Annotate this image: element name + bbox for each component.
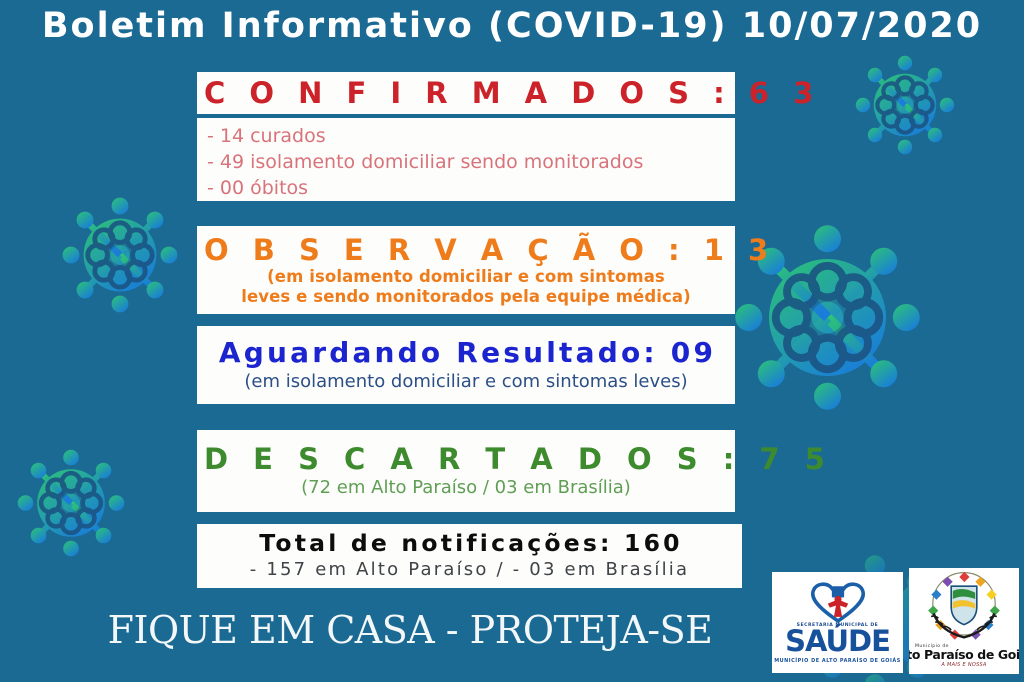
saude-word: SAÚDE (785, 628, 890, 656)
card-observacao: O B S E R V A Ç Ã O : 1 3 (em isolamento… (197, 226, 735, 314)
virus-icon-left-lower (6, 438, 136, 568)
confirmados-heading: C O N F I R M A D O S : 6 3 (197, 78, 735, 109)
detail-line-isolamento: - 49 isolamento domiciliar sendo monitor… (207, 149, 735, 175)
card-confirmados-details: - 14 curados - 49 isolamento domiciliar … (197, 118, 735, 201)
observacao-heading: O B S E R V A Ç Ã O : 1 3 (197, 235, 735, 266)
virus-icon-left-upper (50, 185, 190, 325)
slogan-text: FIQUE EM CASA - PROTEJA-SE (60, 608, 760, 652)
observacao-sub-line-1: (em isolamento domiciliar e com sintomas (197, 268, 735, 287)
covid-bulletin-poster: Boletim Informativo (COVID-19) 10/07/202… (0, 0, 1024, 682)
descartados-sub: (72 em Alto Paraíso / 03 em Brasília) (197, 478, 735, 498)
brasao-word: Alto Paraíso de Goiás (909, 649, 1019, 662)
aguardando-heading: Aguardando Resultado: 09 (197, 338, 735, 368)
virus-icon-top-right (845, 45, 965, 165)
heart-cross-person-icon (807, 577, 869, 623)
logo-brasao-municipal: Município de Alto Paraíso de Goiás A MAI… (909, 568, 1019, 674)
total-sub: - 157 em Alto Paraíso / - 03 em Brasília (197, 560, 742, 580)
aguardando-sub: (em isolamento domiciliar e com sintomas… (197, 372, 735, 392)
detail-line-curados: - 14 curados (207, 123, 735, 149)
saude-line-bottom: MUNICÍPIO DE ALTO PARAÍSO DE GOIÁS (774, 658, 901, 664)
card-confirmados: C O N F I R M A D O S : 6 3 (197, 72, 735, 114)
card-total-notificacoes: Total de notificações: 160 - 157 em Alto… (197, 524, 742, 588)
brasao-line-bottom: A MAIS E NOSSA (941, 662, 986, 668)
total-heading: Total de notificações: 160 (197, 531, 742, 556)
detail-line-obitos: - 00 óbitos (207, 175, 735, 201)
observacao-sub-line-2: leves e sendo monitorados pela equipe mé… (197, 288, 735, 307)
page-title: Boletim Informativo (COVID-19) 10/07/202… (0, 6, 1024, 46)
coat-of-arms-icon (916, 570, 1012, 644)
card-descartados: D E S C A R T A D O S : 7 5 (72 em Alto … (197, 430, 735, 512)
logo-secretaria-saude: SECRETARIA MUNICIPAL DE SAÚDE MUNICÍPIO … (772, 572, 903, 673)
card-aguardando-resultado: Aguardando Resultado: 09 (em isolamento … (197, 326, 735, 404)
descartados-heading: D E S C A R T A D O S : 7 5 (197, 444, 735, 475)
